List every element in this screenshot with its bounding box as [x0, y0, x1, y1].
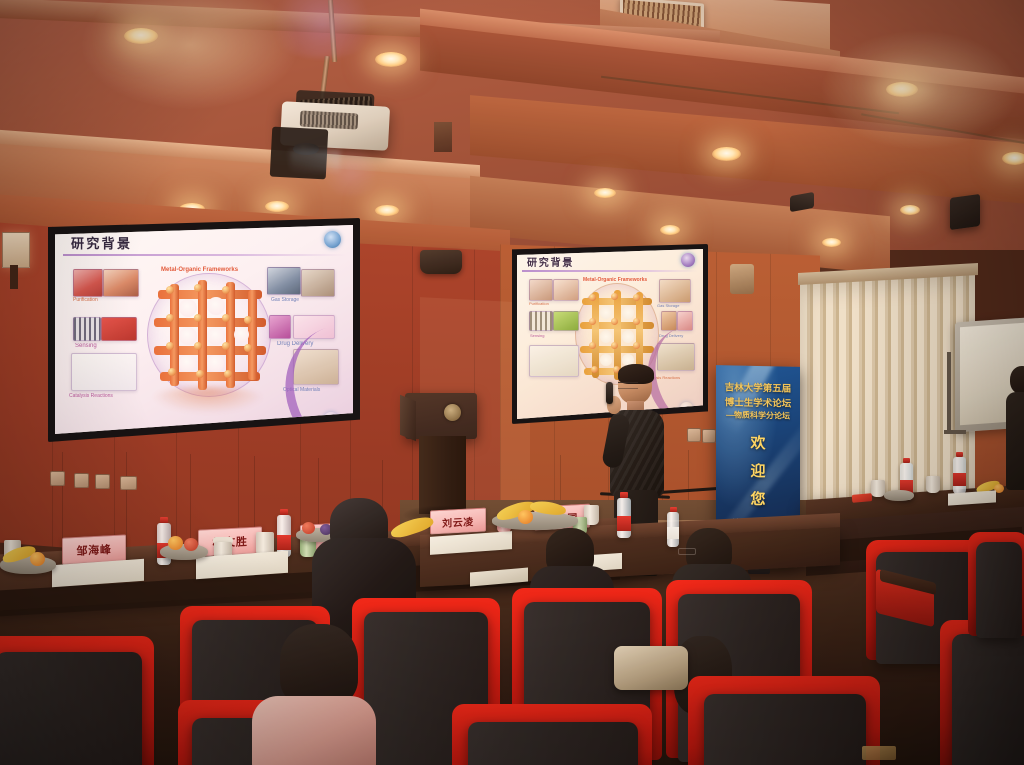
speaker-ceiling-right	[950, 194, 980, 230]
podium-bevel	[400, 395, 416, 441]
downlight-9	[594, 188, 616, 198]
projector-vent-grille	[300, 110, 359, 129]
downlight-1	[124, 28, 158, 44]
downlight-7	[265, 201, 289, 212]
downlight-12	[900, 205, 920, 215]
foreground-person-hair	[280, 624, 358, 706]
slide-thumb	[529, 311, 553, 331]
lecture-hall-photo: 研究背景	[0, 0, 1024, 765]
water-bottle[interactable]	[277, 509, 291, 557]
downlight-8	[375, 205, 399, 216]
orange[interactable]	[168, 536, 183, 550]
slide-side-label: Purification	[529, 301, 549, 306]
slide-thumb	[529, 345, 579, 377]
downlight-5	[1002, 152, 1024, 165]
name-placard: 刘云凌	[430, 508, 486, 535]
podium-emblem-icon	[444, 404, 461, 421]
projector-light-beam	[290, 150, 340, 172]
orange[interactable]	[518, 510, 533, 524]
wall-outlet[interactable]	[50, 471, 65, 486]
wall-outlet[interactable]	[95, 474, 110, 489]
foreground-person-torso	[252, 696, 376, 765]
name-placard-text: 刘云凌	[442, 513, 474, 530]
standing-person-head	[1010, 366, 1024, 394]
audience-glasses-icon	[678, 548, 696, 555]
seat[interactable]	[688, 676, 880, 765]
audience-member-foreground	[246, 624, 378, 765]
slide-thumb	[659, 279, 691, 303]
downlight-11	[822, 238, 841, 247]
mof-structure-graphic-left	[147, 273, 271, 397]
slide-title-right: 研究背景	[527, 254, 574, 269]
banner-welcome-2: 迎	[716, 459, 800, 482]
wall-outlet[interactable]	[74, 473, 89, 488]
wall-speaker-center	[420, 250, 462, 274]
slide-thumb	[73, 269, 103, 297]
slide-side-label: Purification	[73, 297, 98, 303]
downlight-4	[712, 147, 741, 161]
seat[interactable]	[0, 636, 154, 765]
banner-line-3: —物质科学分论坛	[716, 409, 800, 422]
slide-thumb	[529, 279, 553, 301]
orange[interactable]	[30, 552, 45, 566]
apple[interactable]	[184, 538, 198, 551]
whiteboard-support	[944, 430, 966, 434]
slide-thumb	[71, 353, 137, 391]
slide-center-label-left: Metal-Organic Frameworks	[161, 267, 238, 273]
banner-line-2: 博士生学术论坛	[716, 394, 800, 410]
slide-thumb	[301, 269, 335, 297]
wall-outlet[interactable]	[120, 476, 137, 490]
downlight-2	[375, 52, 407, 67]
slide-divider-left	[63, 254, 347, 256]
presenter-glasses-icon	[618, 382, 638, 389]
wall-panel-seam	[126, 452, 127, 552]
wall-panel-seam	[190, 454, 191, 550]
slide-side-label: Catalysis Reactions	[69, 393, 113, 399]
banner-welcome-1: 欢	[716, 431, 800, 454]
wall-outlet[interactable]	[687, 428, 701, 442]
banner-line-1: 吉林大学第五届	[716, 379, 800, 395]
seat[interactable]	[968, 532, 1024, 636]
projection-screen-left: 研究背景	[55, 225, 353, 434]
bag[interactable]	[614, 646, 688, 690]
microphone[interactable]	[606, 382, 613, 404]
wall-speaker-right	[730, 264, 754, 294]
standing-person-torso	[1006, 392, 1024, 490]
fruit-plate	[884, 490, 914, 501]
slide-side-label: Sensing	[530, 333, 544, 338]
university-logo-icon	[324, 231, 341, 248]
slide-title-left: 研究背景	[71, 233, 132, 252]
slide-side-label: Sensing	[75, 343, 97, 349]
slide-thumb	[553, 279, 579, 301]
banner-welcome-3: 您	[716, 487, 800, 510]
slide-left: 研究背景	[55, 225, 353, 434]
slide-thumb	[103, 269, 139, 297]
mof-reflection	[151, 387, 265, 413]
paper-cup[interactable]	[926, 476, 940, 493]
whiteboard-leg	[947, 352, 951, 434]
slide-divider-right	[522, 270, 698, 272]
slide-thumb	[267, 267, 301, 295]
slide-side-label: Gas Storage	[657, 303, 679, 308]
wall-lamp-left	[2, 232, 30, 268]
wall-plate-center	[434, 122, 452, 152]
slide-thumb	[73, 317, 101, 341]
presenter-hair	[618, 364, 654, 384]
water-bottle[interactable]	[617, 492, 631, 538]
paper-cup[interactable]	[871, 480, 885, 497]
wall-outlet[interactable]	[702, 429, 716, 443]
slide-thumb	[553, 311, 579, 331]
seat[interactable]	[940, 620, 1024, 765]
wall-lamp-left-bracket	[10, 265, 18, 289]
slide-thumb	[101, 317, 137, 341]
downlight-10	[660, 225, 680, 235]
audience-standing-right	[1006, 366, 1024, 516]
snack-pack[interactable]	[862, 746, 896, 760]
name-placard-text: 邹海峰	[77, 541, 112, 559]
downlight-3	[886, 82, 918, 97]
university-logo-icon	[681, 253, 695, 267]
slide-thumb	[269, 315, 291, 339]
slide-center-label-right: Metal-Organic Frameworks	[583, 277, 647, 283]
water-bottle[interactable]	[953, 452, 966, 494]
slide-side-label: Gas Storage	[271, 297, 299, 303]
podium-column	[419, 436, 466, 514]
seat[interactable]	[452, 704, 652, 765]
